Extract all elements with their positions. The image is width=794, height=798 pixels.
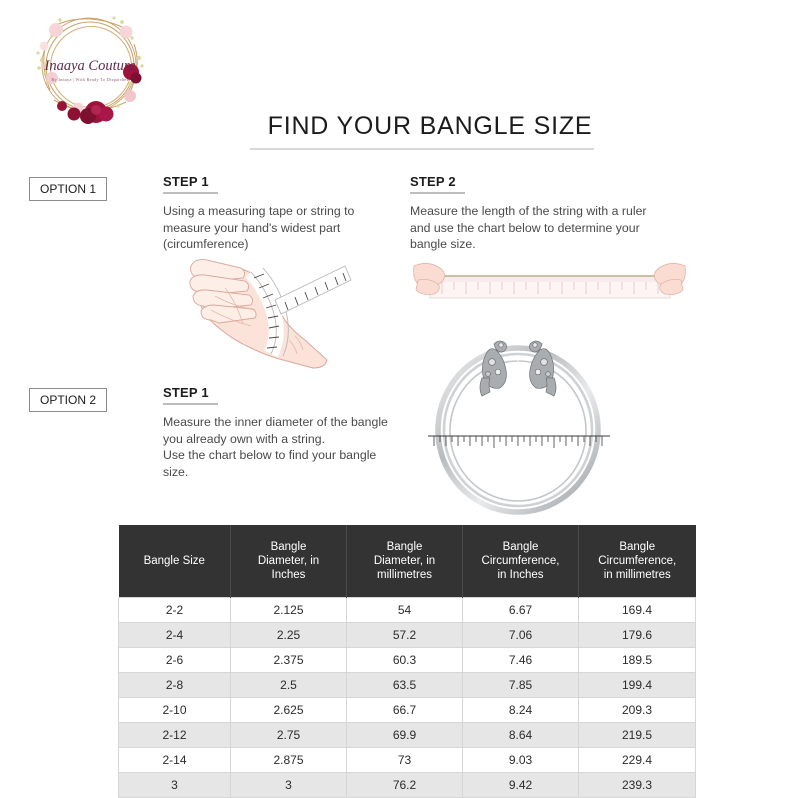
bangle-size-table: Bangle Size Bangle Diameter, in Inches B…	[118, 525, 696, 798]
column-header-circumference-millimetres: Bangle Circumference, in millimetres	[579, 525, 696, 598]
table-row: 2-6 2.375 60.3 7.46 189.5	[119, 648, 696, 673]
string-and-ruler-icon	[412, 250, 687, 320]
step-heading: STEP 1	[163, 174, 393, 189]
cell-circumference-millimetres: 189.5	[579, 648, 696, 673]
cell-bangle-size: 2-2	[119, 598, 231, 623]
floral-wreath-logo: Inaaya Couture By Inaaya | With Ready To…	[26, 8, 154, 128]
brand-name-text: Inaaya Couture	[44, 58, 136, 74]
option-2-step-1: STEP 1 Measure the inner diameter of the…	[163, 385, 413, 480]
table-row: 2-14 2.875 73 9.03 229.4	[119, 748, 696, 773]
cell-circumference-millimetres: 179.6	[579, 623, 696, 648]
cell-diameter-inches: 2.125	[231, 598, 347, 623]
cell-circumference-inches: 6.67	[463, 598, 579, 623]
cell-diameter-millimetres: 57.2	[347, 623, 463, 648]
brand-logo: Inaaya Couture By Inaaya | With Ready To…	[26, 8, 154, 128]
brand-tagline-text: By Inaaya | With Ready To Dispatches	[51, 77, 128, 82]
column-header-circumference-inches: Bangle Circumference, in Inches	[463, 525, 579, 598]
table-row: 2-2 2.125 54 6.67 169.4	[119, 598, 696, 623]
table-row: 2-8 2.5 63.5 7.85 199.4	[119, 673, 696, 698]
table-row: 2-4 2.25 57.2 7.06 179.6	[119, 623, 696, 648]
cell-bangle-size: 2-14	[119, 748, 231, 773]
step-heading-underline	[163, 192, 218, 194]
step-body: Measure the length of the string with a …	[410, 203, 680, 253]
cell-bangle-size: 2-6	[119, 648, 231, 673]
step-heading-underline	[163, 403, 218, 405]
hands-holding-string-on-ruler-illustration	[412, 250, 687, 320]
page-title: FIND YOUR BANGLE SIZE	[250, 112, 610, 141]
hand-measuring-tape-icon	[185, 248, 375, 378]
step-body: Measure the inner diameter of the bangle…	[163, 414, 413, 480]
table-header-row: Bangle Size Bangle Diameter, in Inches B…	[119, 525, 696, 598]
cell-circumference-millimetres: 199.4	[579, 673, 696, 698]
title-divider	[250, 148, 594, 150]
cell-circumference-inches: 8.64	[463, 723, 579, 748]
column-header-diameter-inches: Bangle Diameter, in Inches	[231, 525, 347, 598]
cell-diameter-millimetres: 69.9	[347, 723, 463, 748]
cell-circumference-millimetres: 209.3	[579, 698, 696, 723]
step-heading: STEP 2	[410, 174, 680, 189]
cell-diameter-inches: 2.5	[231, 673, 347, 698]
hand-with-measuring-tape-illustration	[185, 248, 375, 378]
cell-circumference-millimetres: 229.4	[579, 748, 696, 773]
step-body: Using a measuring tape or string to meas…	[163, 203, 393, 253]
cell-diameter-inches: 2.375	[231, 648, 347, 673]
cell-circumference-inches: 7.85	[463, 673, 579, 698]
cell-bangle-size: 2-10	[119, 698, 231, 723]
cell-bangle-size: 2-12	[119, 723, 231, 748]
cell-bangle-size: 2-8	[119, 673, 231, 698]
step-heading: STEP 1	[163, 385, 413, 400]
silver-cuff-bangle-illustration	[420, 332, 615, 517]
cell-diameter-millimetres: 54	[347, 598, 463, 623]
table-body: 2-2 2.125 54 6.67 169.4 2-4 2.25 57.2 7.…	[119, 598, 696, 798]
cell-diameter-millimetres: 73	[347, 748, 463, 773]
table-row: 2-12 2.75 69.9 8.64 219.5	[119, 723, 696, 748]
cell-circumference-millimetres: 219.5	[579, 723, 696, 748]
step-heading-underline	[410, 192, 465, 194]
cell-diameter-millimetres: 66.7	[347, 698, 463, 723]
option-2-badge: OPTION 2	[29, 388, 107, 412]
cell-diameter-inches: 2.875	[231, 748, 347, 773]
cell-diameter-millimetres: 63.5	[347, 673, 463, 698]
option-1-step-1: STEP 1 Using a measuring tape or string …	[163, 174, 393, 253]
cell-diameter-inches: 2.625	[231, 698, 347, 723]
page-header: FIND YOUR BANGLE SIZE	[250, 112, 610, 150]
cell-circumference-inches: 9.03	[463, 748, 579, 773]
cell-diameter-millimetres: 60.3	[347, 648, 463, 673]
cell-circumference-inches: 7.06	[463, 623, 579, 648]
cell-circumference-inches: 8.24	[463, 698, 579, 723]
cell-circumference-inches: 7.46	[463, 648, 579, 673]
option-1-badge: OPTION 1	[29, 177, 107, 201]
column-header-diameter-millimetres: Bangle Diameter, in millimetres	[347, 525, 463, 598]
column-header-bangle-size: Bangle Size	[119, 525, 231, 598]
bangle-with-ruler-icon	[420, 332, 615, 517]
cell-bangle-size: 2-4	[119, 623, 231, 648]
cell-diameter-inches: 2.25	[231, 623, 347, 648]
cell-diameter-inches: 2.75	[231, 723, 347, 748]
cell-circumference-millimetres: 169.4	[579, 598, 696, 623]
option-1-step-2: STEP 2 Measure the length of the string …	[410, 174, 680, 253]
table-row: 2-10 2.625 66.7 8.24 209.3	[119, 698, 696, 723]
